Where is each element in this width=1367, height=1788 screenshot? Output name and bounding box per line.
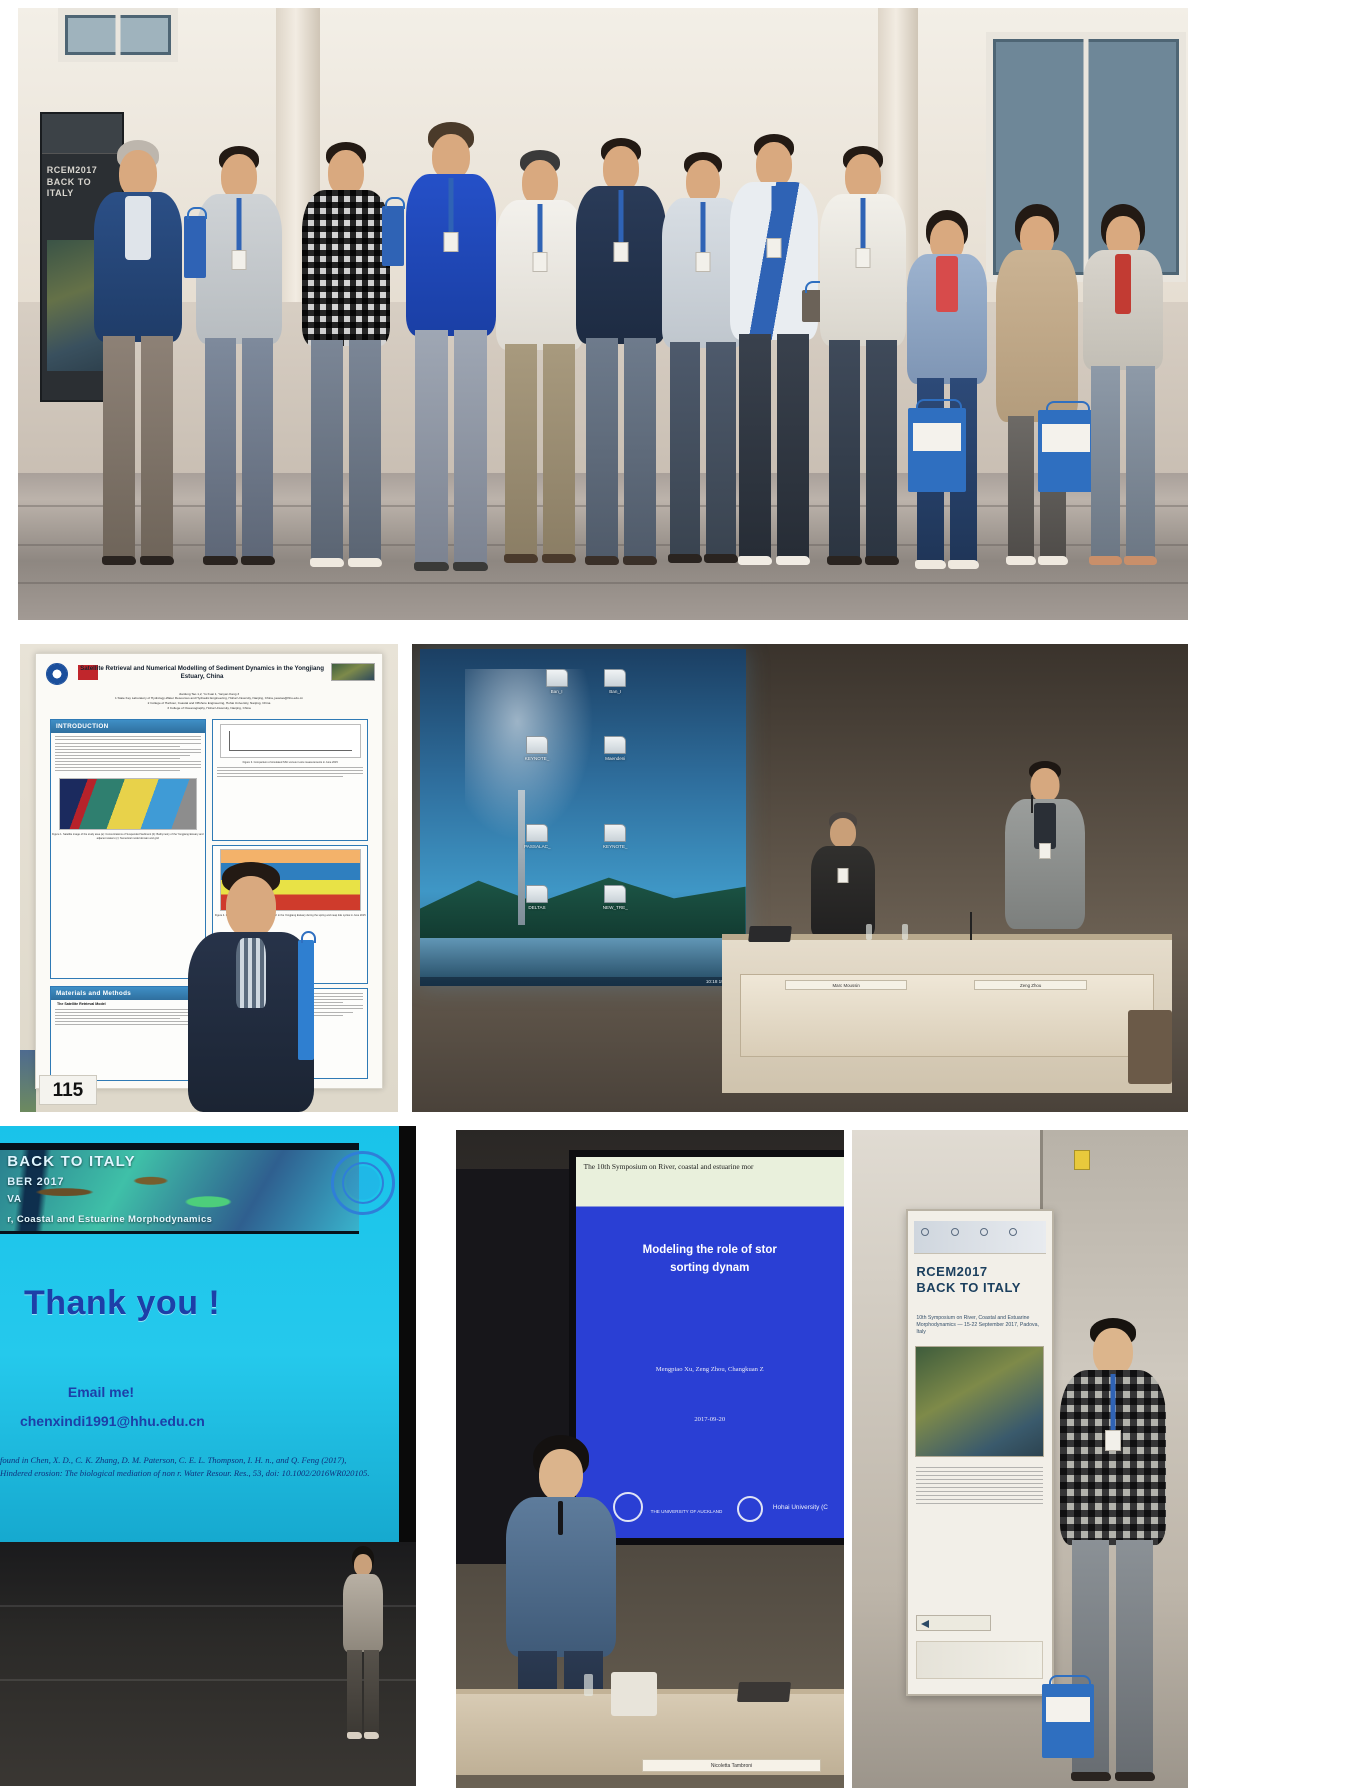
presentation-slide-photo: The 10th Symposium on River, coastal and…: [456, 1130, 844, 1788]
head: [119, 150, 157, 198]
poster-board-edge: [20, 1050, 36, 1112]
file-icon: [526, 885, 548, 903]
backpack: [382, 206, 404, 266]
desktop-icon-label: KEYNOTE_: [524, 756, 550, 761]
water-bottle: [584, 1674, 593, 1696]
chairman-seated: [808, 812, 878, 942]
slide-symposium-header: The 10th Symposium on River, coastal and…: [584, 1162, 836, 1171]
banner-date: BER 2017: [7, 1176, 64, 1188]
file-icon: [526, 736, 548, 754]
desktop-icon-2[interactable]: Ban_I: [602, 669, 628, 694]
slide-header-banner: BACK TO ITALY BER 2017 VA r, Coastal and…: [0, 1143, 359, 1234]
poster-figure-scatter: [220, 724, 361, 758]
sponsor-logo-strip: [914, 1221, 1046, 1255]
desktop-icon-5[interactable]: PASSALAC_: [524, 824, 550, 849]
poster-photo: Satellite Retrieval and Numerical Modell…: [20, 644, 398, 1112]
legs: [502, 344, 578, 562]
poster-column-right: Figure 3. Comparison of simulated SSC ve…: [212, 719, 368, 840]
torso: [302, 190, 390, 346]
head: [1093, 1328, 1133, 1376]
hohai-logo-text: Hohai University (C: [773, 1504, 828, 1511]
head: [830, 818, 856, 848]
thank-you-slide-photo: BACK TO ITALY BER 2017 VA r, Coastal and…: [0, 1126, 416, 1786]
hohai-seal-logo-icon: [46, 663, 68, 685]
poster-subsection-satellite-model: The Satellite Retrieval Model: [57, 1002, 205, 1006]
slide-title: Modeling the role of stor sorting dynam: [586, 1241, 833, 1278]
sponsor-logo-icon-2: [951, 1228, 959, 1236]
slide-title-line-1: Modeling the role of stor: [586, 1241, 833, 1259]
slide-date: 2017-09-20: [586, 1416, 833, 1423]
legs: [826, 340, 900, 564]
hall-window-left: [58, 8, 178, 62]
university-seal-icon: [331, 1151, 395, 1215]
legs: [308, 340, 384, 566]
badge: [767, 238, 782, 258]
water-bottle-1: [866, 924, 872, 940]
photo-collage: RCEM2017 BACK TO ITALY: [0, 0, 1367, 1788]
desktop-icon-6[interactable]: KEYNOTE_: [602, 824, 628, 849]
standee-delegate: [1058, 1318, 1168, 1788]
banner-subtitle: r, Coastal and Estuarine Morphodynamics: [7, 1214, 212, 1225]
conference-tote-bag: [908, 408, 966, 492]
desktop-icon-7[interactable]: DELTAS: [524, 885, 550, 910]
banner-city: VA: [7, 1194, 22, 1205]
poster-figure-1: [59, 778, 197, 830]
scarf: [936, 256, 958, 312]
shirt: [125, 196, 151, 260]
desktop-icon-label: NEW_TRE_: [602, 905, 628, 910]
standee-photo: RCEM2017 BACK TO ITALY 10th Symposium on…: [852, 1130, 1188, 1788]
desktop-icon-label: PASSALAC_: [524, 844, 550, 849]
poster-section-introduction: INTRODUCTION: [51, 720, 205, 733]
badge: [614, 242, 629, 262]
badge: [232, 250, 247, 270]
head: [1030, 768, 1059, 802]
standee-subtitle: 10th Symposium on River, Coastal and Est…: [916, 1315, 1043, 1336]
standee-title-line-1: RCEM2017: [916, 1264, 1043, 1280]
poster-authors-block: Jianfeng Tao 1,2, Yu Kuai 1, Yanyan Kang…: [64, 692, 354, 711]
desktop-icon-label: KEYNOTE_: [602, 844, 628, 849]
windows-taskbar[interactable]: 10:18 19/09/2017: [420, 977, 746, 986]
legs: [412, 330, 490, 570]
legs: [1088, 366, 1158, 564]
auckland-logo-text: THE UNIVERSITY OF AUCKLAND: [651, 1509, 723, 1515]
badge: [696, 252, 711, 272]
person-11: [994, 204, 1080, 596]
desktop-icon-label: DELTAS: [524, 905, 550, 910]
projector-box: [737, 1682, 791, 1702]
white-chair: [611, 1672, 657, 1716]
poster-title: Satellite Retrieval and Numerical Modell…: [71, 665, 334, 681]
tote-white-panel: [1046, 1697, 1090, 1722]
lecture-hall-photo: Ban_I Ban_I KEYNOTE_ Maendeni PASSALAC_ …: [412, 644, 1188, 1112]
group-photo: RCEM2017 BACK TO ITALY: [18, 8, 1188, 620]
file-icon: [604, 824, 626, 842]
person-3: [300, 142, 392, 596]
badge: [1039, 843, 1051, 859]
table-nameplate: Nicoletta Tambroni: [642, 1759, 820, 1772]
desktop-icon-1[interactable]: Ban_I: [544, 669, 570, 694]
desktop-icon-label: Ban_I: [544, 689, 570, 694]
person-2: [194, 146, 284, 596]
desktop-icon-label: Ban_I: [602, 689, 628, 694]
slide-authors: Mengpiao Xu, Zeng Zhou, Changkuan Z: [586, 1366, 833, 1373]
email-address: chenxindi1991@hhu.edu.cn: [20, 1413, 205, 1429]
intro-body-text: [51, 734, 205, 775]
legs: [736, 334, 812, 564]
poster-affiliation-3: 3 College of Oceanography, Hohai Univers…: [64, 706, 354, 711]
badge: [444, 232, 459, 252]
projected-thank-you-slide: BACK TO ITALY BER 2017 VA r, Coastal and…: [0, 1126, 399, 1542]
thank-you-presenter: [341, 1546, 385, 1746]
file-icon: [546, 669, 568, 687]
head: [354, 1554, 372, 1576]
handheld-microphone-icon: [558, 1501, 563, 1535]
slide-title-line-2: sorting dynam: [586, 1259, 833, 1277]
sponsor-logo-icon-4: [1009, 1228, 1017, 1236]
legs: [583, 338, 659, 564]
badge: [856, 248, 871, 268]
head: [539, 1449, 583, 1501]
poster-presenter: [186, 862, 316, 1112]
badge: [1105, 1430, 1121, 1451]
person-5: [494, 150, 586, 596]
standee-body-text: [916, 1467, 1043, 1507]
person-9: [818, 146, 908, 596]
legs: [100, 336, 176, 564]
person-1: [92, 140, 184, 596]
poster-column-left: INTRODUCTION Figure 1. Satellite image o…: [50, 719, 206, 979]
clock-time: 10:18: [706, 979, 718, 984]
slide-reference-citation: found in Chen, X. D., C. K. Zhang, D. M.…: [0, 1454, 379, 1479]
sponsor-logo-icon-1: [921, 1228, 929, 1236]
desktop-icon-8[interactable]: NEW_TRE_: [602, 885, 628, 910]
backpack: [184, 216, 206, 278]
nameplate-right: Zeng Zhou: [974, 980, 1087, 990]
direction-arrow-sign: [916, 1615, 991, 1631]
sponsor-logo-icon-3: [980, 1228, 988, 1236]
poster-figure-1-caption: Figure 1. Satellite image of the study a…: [51, 833, 205, 840]
poster-number-badge: 115: [39, 1075, 97, 1105]
checked-shirt: [236, 938, 266, 1008]
results-body-text-top: [213, 765, 367, 781]
desktop-icon-4[interactable]: Maendeni: [602, 736, 628, 761]
standee-title-line-2: BACK TO ITALY: [916, 1280, 1043, 1296]
file-icon: [604, 736, 626, 754]
head: [226, 876, 276, 938]
badge: [837, 868, 848, 883]
footer-logo-strip: [916, 1641, 1043, 1680]
legs: [202, 338, 276, 564]
conference-tote-bag: [1042, 1684, 1094, 1758]
wallpaper-hills: [420, 864, 746, 938]
rcem-logo-icon: [331, 663, 375, 681]
legs: [346, 1650, 380, 1738]
presenters-desk: Marc Moussin Zeng Zhou: [722, 934, 1172, 1093]
tote-white-panel: [913, 423, 962, 452]
person-12: [1080, 204, 1166, 596]
microphone-icon: [1031, 795, 1033, 813]
file-icon: [604, 885, 626, 903]
backpack-strap: [298, 940, 314, 1060]
speaker-standing: [1002, 761, 1088, 943]
wall-sign-icon: [1074, 1150, 1090, 1170]
hohai-logo-icon: [737, 1496, 763, 1522]
person-10: [904, 210, 990, 596]
methods-body-text: [51, 1007, 205, 1030]
laptop[interactable]: [749, 926, 793, 942]
rcem-standing-banner: RCEM2017 BACK TO ITALY 10th Symposium on…: [906, 1209, 1054, 1696]
file-icon: [604, 669, 626, 687]
thank-you-heading: Thank you !: [24, 1284, 220, 1323]
poster-section-methods: Materials and Methods: [51, 987, 205, 1000]
torso: [996, 250, 1078, 422]
water-bottle-2: [902, 924, 908, 940]
person-8: [728, 134, 820, 596]
red-bag-strap: [1115, 254, 1131, 314]
torso: [343, 1574, 383, 1652]
desktop-icon-3[interactable]: KEYNOTE_: [524, 736, 550, 761]
badge: [533, 252, 548, 272]
nameplate-left: Marc Moussin: [785, 980, 907, 990]
email-label: Email me!: [68, 1384, 134, 1400]
chair: [1128, 1010, 1172, 1084]
person-6: [574, 138, 668, 596]
desk-microphone-icon: [970, 912, 972, 940]
file-icon: [526, 824, 548, 842]
projected-desktop-screen: Ban_I Ban_I KEYNOTE_ Maendeni PASSALAC_ …: [420, 649, 746, 986]
person-4: [404, 122, 498, 596]
banner-back-to-italy: BACK TO ITALY: [7, 1153, 136, 1170]
torso: [811, 846, 875, 938]
standee-satellite-image: [915, 1346, 1044, 1457]
desktop-icon-label: Maendeni: [602, 756, 628, 761]
poster-column-left-methods: Materials and Methods The Satellite Retr…: [50, 986, 206, 1081]
standee-title: RCEM2017 BACK TO ITALY: [916, 1264, 1043, 1295]
